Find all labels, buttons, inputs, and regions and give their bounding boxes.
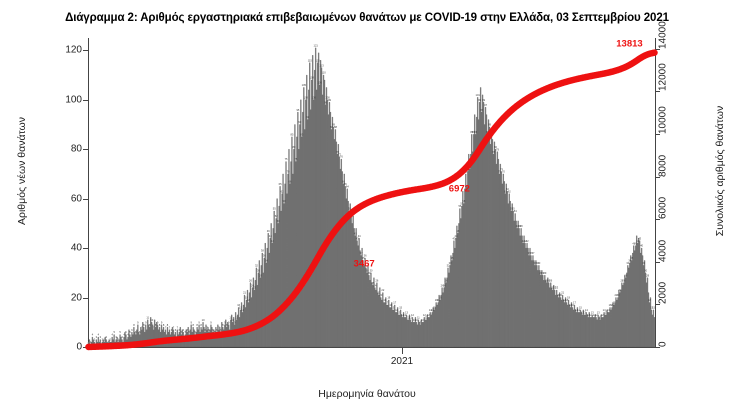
y-axis-right-tick-mark [655, 262, 660, 263]
y-axis-right-tick-label: 14000 [658, 21, 669, 49]
x-axis-tick-mark [402, 348, 403, 354]
y-axis-left-tick-label: 80 [71, 144, 82, 155]
y-axis-right-tick-mark [655, 219, 660, 220]
chart-title: Διάγραμμα 2: Αριθμός εργαστηριακά επιβεβ… [0, 11, 734, 25]
line-value-annotation: 13813 [616, 38, 642, 49]
y-axis-right-tick-label: 6000 [658, 197, 669, 219]
y-axis-right-tick-label: 2000 [658, 282, 669, 304]
y-axis-right-label: Συνολικός αριθμός θανάτων [714, 51, 726, 291]
y-axis-right-tick-label: 12000 [658, 63, 669, 91]
y-axis-left-label: Αριθμός νέων θανάτων [16, 51, 28, 291]
cumulative-line-series [88, 38, 655, 347]
y-axis-left-tick-label: 60 [71, 193, 82, 204]
x-axis-tick-label: 2021 [391, 356, 413, 367]
y-axis-left-tick-label: 20 [71, 292, 82, 303]
y-axis-right-tick-mark [655, 304, 660, 305]
y-axis-right-tick-mark [655, 134, 660, 135]
line-value-annotation: 6972 [449, 184, 470, 195]
line-value-annotation: 3467 [354, 259, 375, 270]
y-axis-right-tick-label: 4000 [658, 240, 669, 262]
y-axis-left-tick-label: 40 [71, 243, 82, 254]
y-axis-left-tick-label: 0 [76, 342, 82, 353]
x-axis-label: Ημερομηνία θανάτου [0, 388, 734, 400]
y-axis-right-tick-mark [655, 347, 660, 348]
y-axis-right-tick-label: 10000 [658, 106, 669, 134]
y-axis-right-tick-mark [655, 91, 660, 92]
y-axis-right-tick-mark [655, 177, 660, 178]
y-axis-left-tick-label: 100 [65, 94, 82, 105]
cumulative-line [88, 53, 654, 347]
y-axis-left-tick-label: 120 [65, 45, 82, 56]
chart-figure: Διάγραμμα 2: Αριθμός εργαστηριακά επιβεβ… [0, 0, 734, 419]
right-axis-line [655, 38, 656, 348]
plot-area: 020406080100120 020004000600080001000012… [88, 38, 655, 347]
y-axis-right-tick-mark [655, 49, 660, 50]
y-axis-right-tick-label: 8000 [658, 154, 669, 176]
